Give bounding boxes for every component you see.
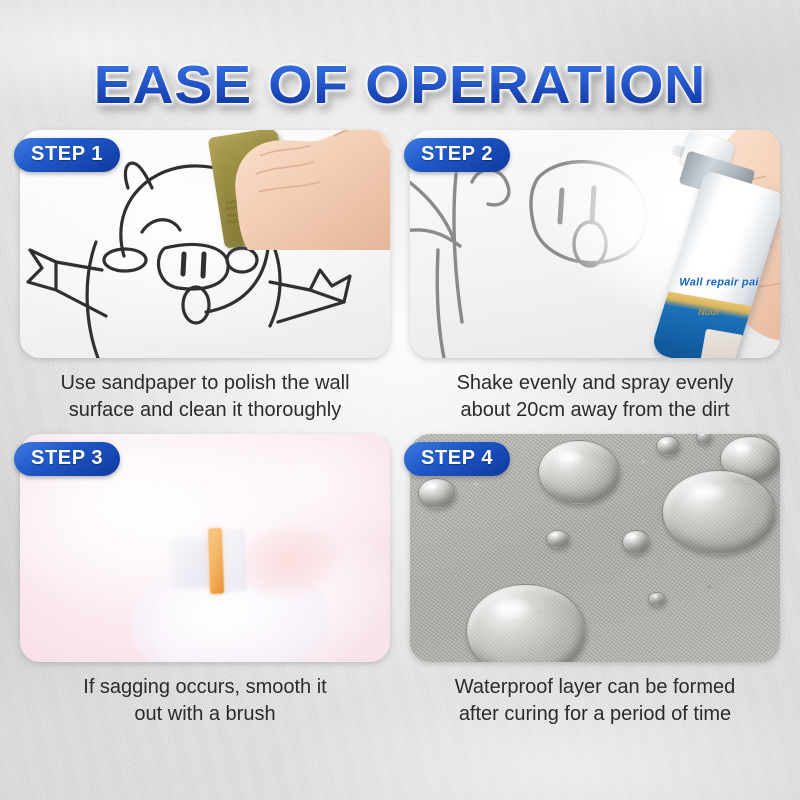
caption-line: Shake evenly and spray evenly xyxy=(416,370,774,397)
caption-line: Use sandpaper to polish the wall xyxy=(26,370,384,397)
caption-line: about 20cm away from the dirt xyxy=(416,397,774,424)
step-card-3: If sagging occurs, smooth it out with a … xyxy=(20,434,390,728)
spray-can: Wall repair paint Nuut xyxy=(638,134,780,358)
can-product-photo xyxy=(698,329,743,358)
step-badge-4: STEP 4 xyxy=(404,442,510,476)
can-brand-text: Nuut xyxy=(698,307,719,317)
step-caption-4: Waterproof layer can be formed after cur… xyxy=(410,674,780,728)
can-label-text: Wall repair paint xyxy=(679,276,757,288)
caption-line: out with a brush xyxy=(26,701,384,728)
water-droplet xyxy=(466,584,586,662)
step-badge-1: STEP 1 xyxy=(14,138,120,172)
water-droplet xyxy=(546,530,570,548)
step-card-1: SUPER COATED WATERPROOF ABRASIVE PAPER E… xyxy=(20,130,390,424)
water-droplet xyxy=(648,592,666,606)
water-droplet xyxy=(538,440,620,504)
caption-line: Waterproof layer can be formed xyxy=(416,674,774,701)
caption-line: after curing for a period of time xyxy=(416,701,774,728)
hand-with-sandpaper xyxy=(230,130,390,250)
can-bottom-band xyxy=(650,290,757,358)
water-droplet xyxy=(418,478,456,508)
water-droplet xyxy=(662,470,776,554)
step-caption-2: Shake evenly and spray evenly about 20cm… xyxy=(410,370,780,424)
caption-line: If sagging occurs, smooth it xyxy=(26,674,384,701)
brush-handle xyxy=(208,528,224,594)
step-card-4: Waterproof layer can be formed after cur… xyxy=(410,434,780,728)
steps-grid: SUPER COATED WATERPROOF ABRASIVE PAPER E… xyxy=(20,130,780,728)
step-caption-3: If sagging occurs, smooth it out with a … xyxy=(20,674,390,728)
step-caption-1: Use sandpaper to polish the wall surface… xyxy=(20,370,390,424)
water-droplet xyxy=(656,436,680,456)
step-card-2: Wall repair paint Nuut Shake evenly and … xyxy=(410,130,780,424)
page-title: EASE OF OPERATION xyxy=(94,58,706,112)
water-droplet xyxy=(696,434,712,444)
water-droplet xyxy=(622,530,650,554)
step-badge-2: STEP 2 xyxy=(404,138,510,172)
step-badge-3: STEP 3 xyxy=(14,442,120,476)
caption-line: surface and clean it thoroughly xyxy=(26,397,384,424)
